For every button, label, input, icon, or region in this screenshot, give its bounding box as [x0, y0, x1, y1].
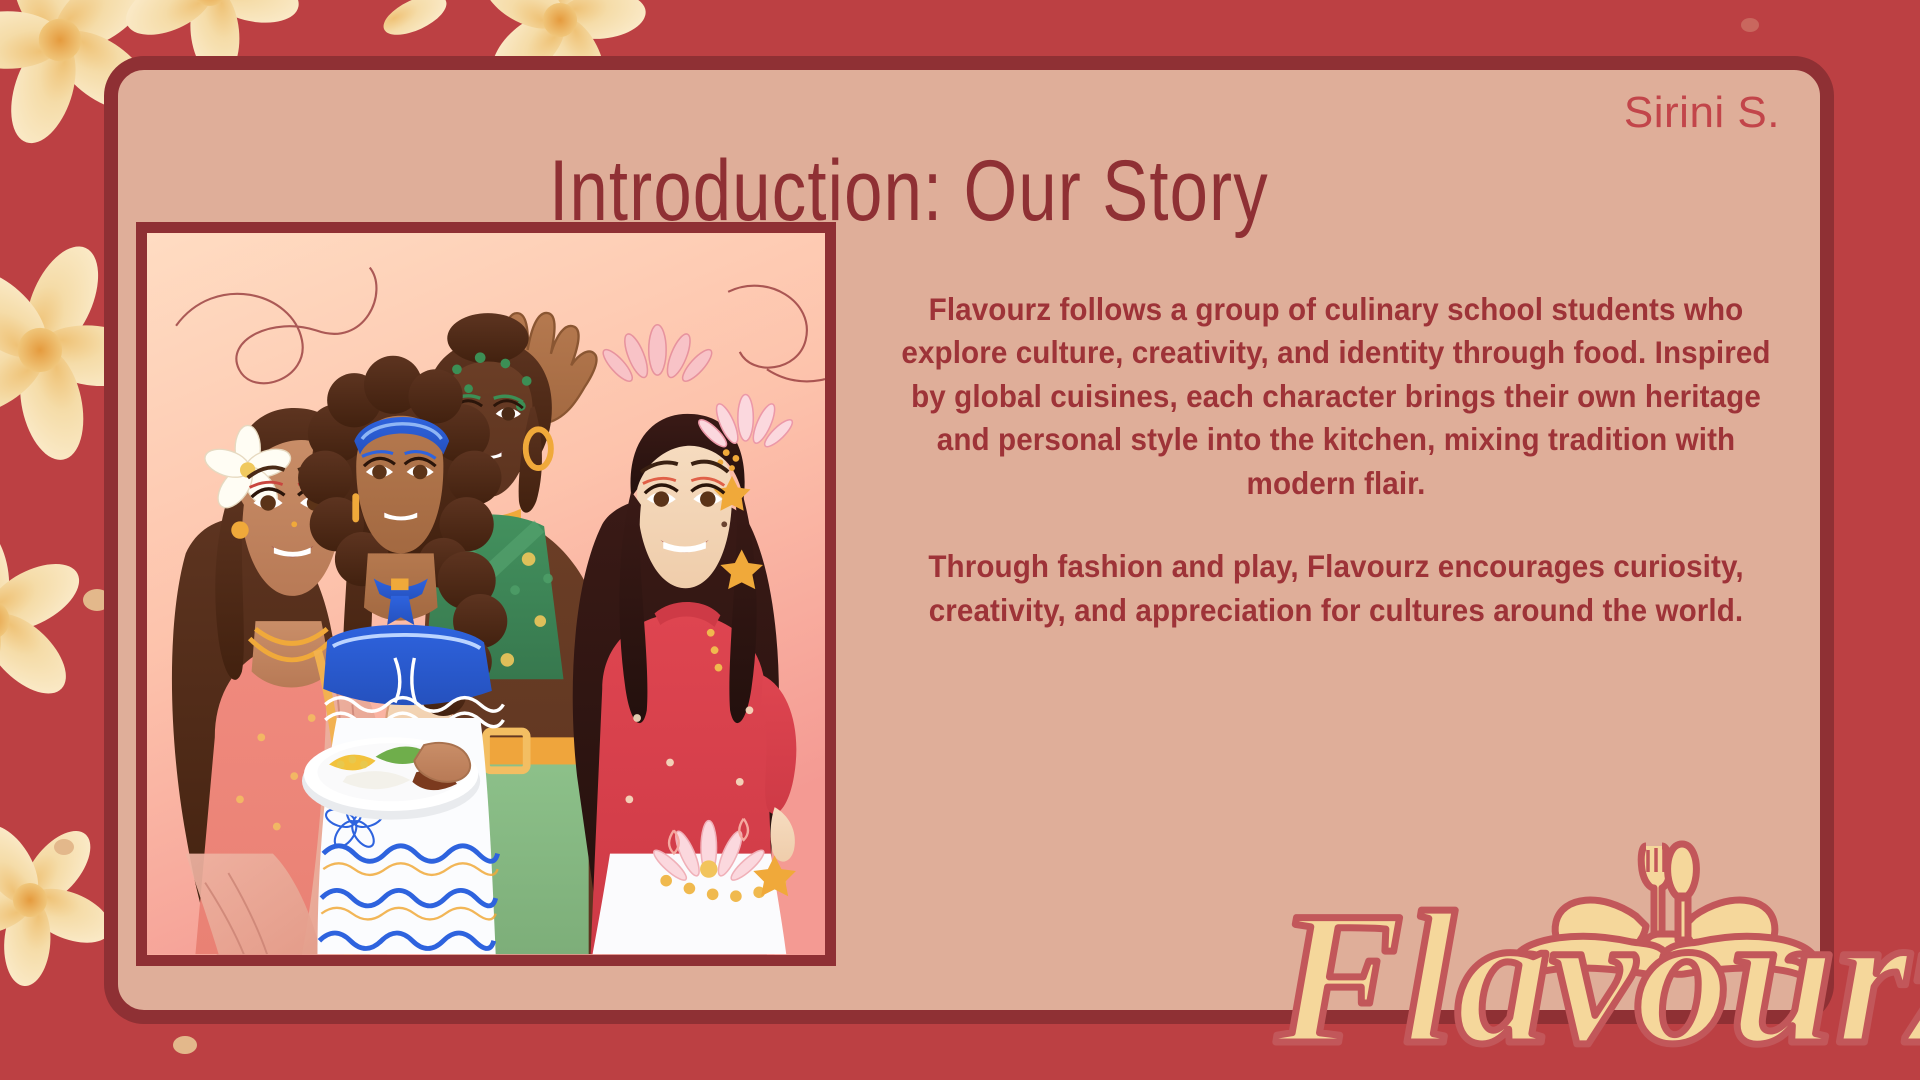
speck-5	[1741, 18, 1759, 32]
character-blue-dress	[298, 356, 507, 955]
speck-3	[54, 839, 74, 855]
flower-left-lower	[0, 505, 107, 732]
nose-stud	[291, 521, 297, 527]
logo-wordmark: Flavourz	[1275, 874, 1920, 1080]
petal-single-3	[378, 0, 452, 43]
speck-4	[173, 1036, 197, 1054]
flavourz-logo: .lg-fill { fill:#F5D79B; stroke:#C2575A;…	[1280, 830, 1920, 1080]
story-paragraph-2: Through fashion and play, Flavourz encou…	[894, 545, 1778, 632]
story-text-column: Flavourz follows a group of culinary sch…	[866, 288, 1806, 632]
illustration-frame	[136, 222, 836, 966]
bar-earring	[352, 493, 359, 522]
plate-of-food	[302, 737, 480, 819]
gold-earring	[231, 521, 248, 538]
author-credit: Sirini S.	[1624, 88, 1780, 138]
story-paragraph-1: Flavourz follows a group of culinary sch…	[894, 288, 1778, 505]
illustration-image	[147, 233, 825, 955]
